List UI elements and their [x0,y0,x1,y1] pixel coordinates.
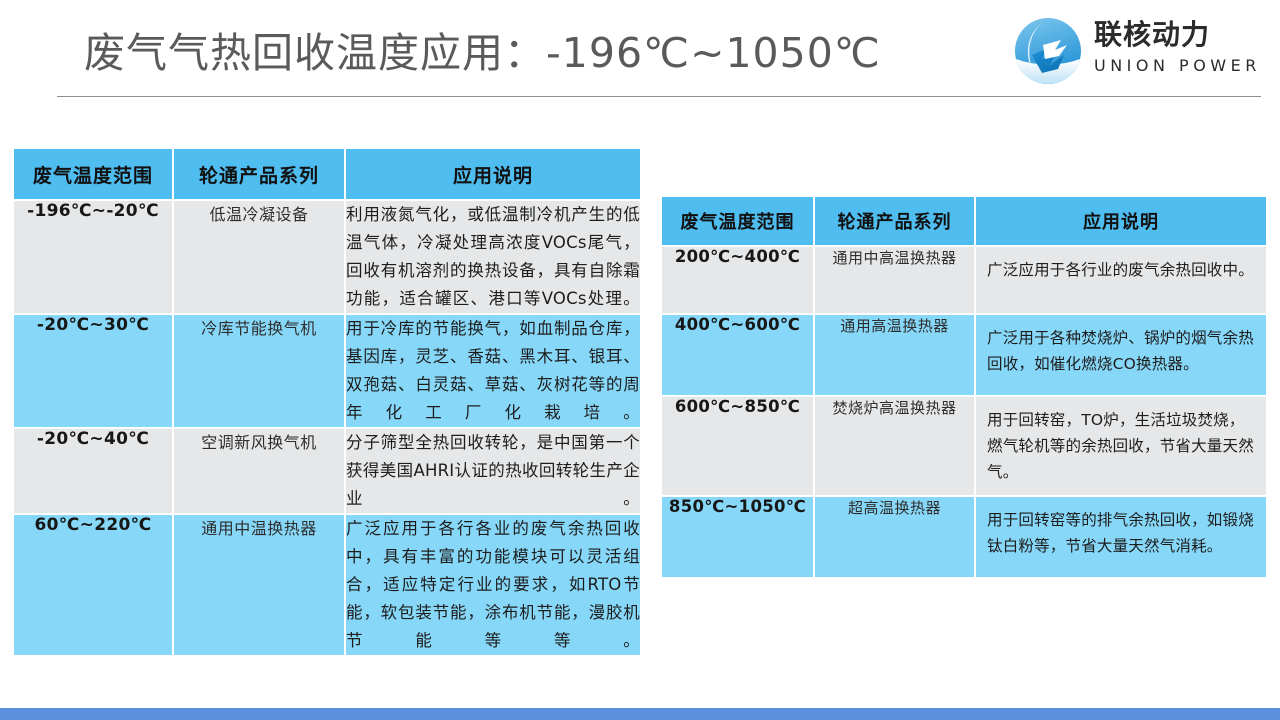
table-header-row: 废气温度范围 轮通产品系列 应用说明 [13,148,641,200]
table-row: -20℃~30℃ 冷库节能换气机 用于冷库的节能换气，如血制品仓库，基因库，灵芝… [13,314,641,428]
union-power-globe-swoosh-icon [1012,15,1084,87]
cell-application-notes: 分子筛型全热回收转轮，是中国第一个获得美国AHRI认证的热收回转轮生产企业。 [345,428,641,514]
cell-application-notes: 用于冷库的节能换气，如血制品仓库，基因库，灵芝、香菇、黑木耳、银耳、双孢菇、白灵… [345,314,641,428]
brand-wordmark: 联核动力 UNION POWER [1094,18,1270,77]
cell-product-series: 低温冷凝设备 [173,200,345,314]
table-row: 600℃~850℃ 焚烧炉高温换热器 用于回转窑，TO炉，生活垃圾焚烧，燃气轮机… [661,396,1267,496]
column-header-application-notes: 应用说明 [975,196,1267,246]
column-header-temperature-range: 废气温度范围 [661,196,814,246]
cell-application-notes: 广泛应用于各行各业的废气余热回收中，具有丰富的功能模块可以灵活组合，适应特定行业… [345,514,641,656]
table-row: 850℃~1050℃ 超高温换热器 用于回转窑等的排气余热回收，如锻烧钛白粉等，… [661,496,1267,578]
table-row: 60℃~220℃ 通用中温换热器 广泛应用于各行各业的废气余热回收中，具有丰富的… [13,514,641,656]
table-row: 400℃~600℃ 通用高温换热器 广泛用于各种焚烧炉、锅炉的烟气余热回收，如催… [661,314,1267,396]
cell-application-notes: 用于回转窑等的排气余热回收，如锻烧钛白粉等，节省大量天然气消耗。 [975,496,1267,578]
page-title: 废气气热回收温度应用：-196℃~1050℃ [84,26,881,80]
column-header-product-series: 轮通产品系列 [814,196,975,246]
cell-temperature-range: -20℃~30℃ [13,314,173,428]
cell-temperature-range: 400℃~600℃ [661,314,814,396]
column-header-application-notes: 应用说明 [345,148,641,200]
column-header-temperature-range: 废气温度范围 [13,148,173,200]
brand-logo: 联核动力 UNION POWER [1012,12,1268,90]
cell-application-notes: 用于回转窑，TO炉，生活垃圾焚烧，燃气轮机等的余热回收，节省大量天然气。 [975,396,1267,496]
low-to-mid-temperature-table: 废气温度范围 轮通产品系列 应用说明 -196℃~-20℃ 低温冷凝设备 利用液… [13,148,641,656]
table-row: -196℃~-20℃ 低温冷凝设备 利用液氮气化，或低温制冷机产生的低温气体，冷… [13,200,641,314]
cell-application-notes: 利用液氮气化，或低温制冷机产生的低温气体，冷凝处理高浓度VOCs尾气，回收有机溶… [345,200,641,314]
cell-temperature-range: 200℃~400℃ [661,246,814,314]
cell-temperature-range: 60℃~220℃ [13,514,173,656]
cell-product-series: 通用高温换热器 [814,314,975,396]
brand-name-en: UNION POWER [1094,55,1270,77]
cell-product-series: 焚烧炉高温换热器 [814,396,975,496]
cell-product-series: 冷库节能换气机 [173,314,345,428]
table-row: 200℃~400℃ 通用中高温换热器 广泛应用于各行业的废气余热回收中。 [661,246,1267,314]
cell-application-notes: 广泛用于各种焚烧炉、锅炉的烟气余热回收，如催化燃烧CO换热器。 [975,314,1267,396]
cell-temperature-range: -20℃~40℃ [13,428,173,514]
cell-product-series: 空调新风换气机 [173,428,345,514]
cell-temperature-range: 850℃~1050℃ [661,496,814,578]
table-row: -20℃~40℃ 空调新风换气机 分子筛型全热回收转轮，是中国第一个获得美国AH… [13,428,641,514]
cell-application-notes: 广泛应用于各行业的废气余热回收中。 [975,246,1267,314]
cell-product-series: 通用中高温换热器 [814,246,975,314]
title-divider [57,96,1261,97]
cell-temperature-range: 600℃~850℃ [661,396,814,496]
table-header-row: 废气温度范围 轮通产品系列 应用说明 [661,196,1267,246]
slide-header: 废气气热回收温度应用：-196℃~1050℃ [0,0,1280,100]
cell-product-series: 通用中温换热器 [173,514,345,656]
column-header-product-series: 轮通产品系列 [173,148,345,200]
cell-temperature-range: -196℃~-20℃ [13,200,173,314]
brand-name-cn: 联核动力 [1094,18,1270,52]
footer-accent-bar [0,708,1280,720]
high-temperature-table: 废气温度范围 轮通产品系列 应用说明 200℃~400℃ 通用中高温换热器 广泛… [661,196,1267,578]
cell-product-series: 超高温换热器 [814,496,975,578]
